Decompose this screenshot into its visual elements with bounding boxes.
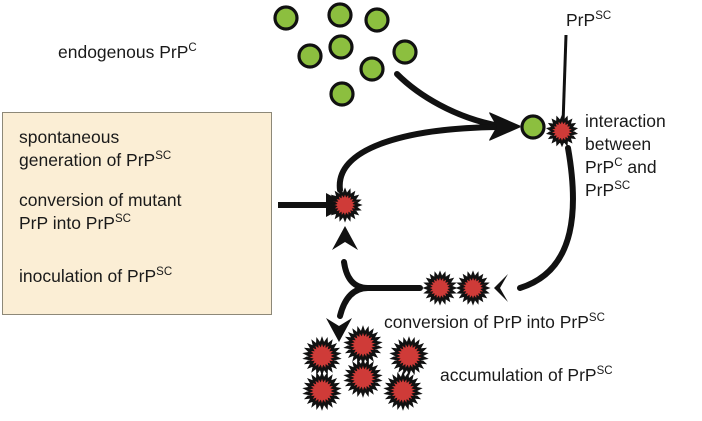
prp-sc-star — [306, 375, 338, 407]
prp-sc-star — [331, 191, 359, 219]
source-item-line: conversion of mutant — [19, 190, 181, 210]
prp-sc-star — [426, 274, 454, 302]
prp-c-circle — [299, 45, 321, 67]
prp-c-circle — [361, 58, 383, 80]
prp-c-circle — [275, 7, 297, 29]
prp-c-circle — [329, 4, 351, 26]
label-text: endogenous PrP — [58, 42, 188, 62]
prp-c-circle — [394, 41, 416, 63]
source-item-line: inoculation of PrP — [19, 266, 156, 286]
prp-c-circle — [366, 9, 388, 31]
prp-sc-star — [393, 340, 425, 372]
source-item-line: PrP into PrP — [19, 213, 115, 233]
prp-sc-star — [549, 118, 575, 144]
label-text: accumulation of PrP — [440, 365, 597, 385]
source-item-line: spontaneous — [19, 127, 119, 147]
superscript-sc: SC — [595, 10, 611, 22]
label-endogenous-prpc: endogenous PrPC — [58, 40, 197, 64]
source-item-line: generation of PrP — [19, 150, 155, 170]
label-line: PrP — [585, 157, 614, 177]
interaction-node — [522, 116, 544, 138]
prp-c-circle-cluster — [275, 4, 416, 105]
superscript-sc: SC — [597, 365, 613, 377]
superscript-sc: SC — [115, 213, 131, 225]
superscript-c: C — [188, 42, 196, 54]
prp-sc-star — [347, 329, 379, 361]
prion-pathway-diagram: spontaneousgeneration of PrPSC conversio… — [0, 0, 702, 421]
prp-c-circle — [330, 36, 352, 58]
superscript-sc: SC — [155, 150, 171, 162]
arrow-star-to-interaction — [340, 113, 521, 190]
label-text: PrP — [566, 10, 595, 30]
superscript-c: C — [614, 157, 622, 169]
prp-sc-star — [387, 375, 419, 407]
label-accumulation: accumulation of PrPSC — [440, 363, 613, 387]
source-conditions-box: spontaneousgeneration of PrPSC conversio… — [2, 112, 272, 315]
prp-sc-star — [347, 362, 379, 394]
superscript-sc: SC — [156, 266, 172, 278]
label-text: conversion of PrP into PrP — [384, 312, 589, 332]
label-line: between — [585, 134, 651, 154]
label-conversion: conversion of PrP into PrPSC — [384, 310, 605, 334]
source-item-inoculation: inoculation of PrPSC — [19, 265, 172, 288]
label-prpsc-callout: PrPSC — [566, 8, 611, 32]
superscript-sc: SC — [614, 180, 630, 192]
label-line: PrP — [585, 180, 614, 200]
source-item-mutant-conversion: conversion of mutantPrP into PrPSC — [19, 189, 181, 235]
label-line: and — [623, 157, 657, 177]
arrow-interaction-to-pair — [494, 148, 573, 302]
prp-sc-star — [306, 340, 338, 372]
superscript-sc: SC — [589, 312, 605, 324]
prp-c-circle — [331, 83, 353, 105]
label-line: interaction — [585, 111, 666, 131]
label-interaction: interactionbetweenPrPC andPrPSC — [585, 110, 666, 202]
prp-c-circle — [522, 116, 544, 138]
prp-sc-star — [459, 274, 487, 302]
callout-line-prpsc — [563, 35, 566, 124]
source-item-spontaneous: spontaneousgeneration of PrPSC — [19, 126, 171, 172]
